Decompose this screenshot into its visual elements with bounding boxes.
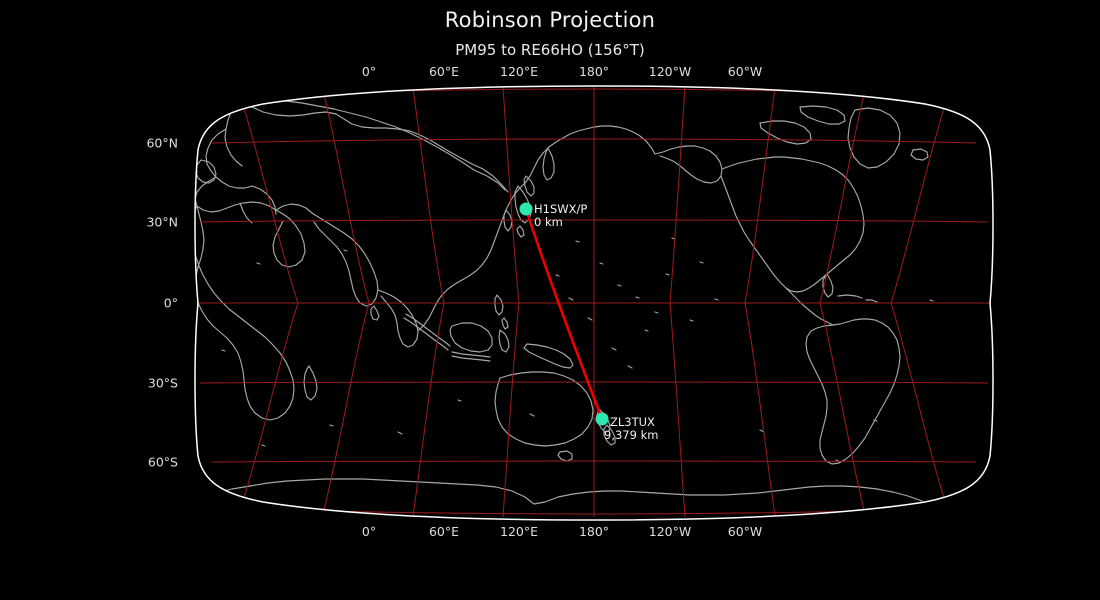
lon-tick-top-120e: 120°E	[500, 64, 538, 79]
lon-tick-bottom-60e: 60°E	[429, 524, 459, 539]
lat-tick-30s: 30°S	[112, 376, 178, 391]
lon-tick-top-60w: 60°W	[728, 64, 763, 79]
lon-tick-bottom-0: 0°	[362, 524, 376, 539]
lat-tick-60n: 60°N	[112, 136, 178, 151]
map-figure: Robinson Projection PM95 to RE66HO (156°…	[0, 0, 1100, 600]
marker-origin[interactable]	[520, 203, 533, 216]
marker-origin-label-group: H1SWX/P 0 km	[534, 203, 587, 229]
lon-tick-bottom-120w: 120°W	[649, 524, 691, 539]
lon-tick-top-0: 0°	[362, 64, 376, 79]
marker-destination[interactable]	[596, 413, 609, 426]
lon-tick-top-180: 180°	[579, 64, 609, 79]
lon-tick-bottom-120e: 120°E	[500, 524, 538, 539]
marker-destination-distance: 9,379 km	[604, 429, 658, 442]
lon-tick-top-120w: 120°W	[649, 64, 691, 79]
lon-tick-top-60e: 60°E	[429, 64, 459, 79]
lat-tick-0: 0°	[112, 296, 178, 311]
lat-tick-30n: 30°N	[112, 215, 178, 230]
marker-origin-distance: 0 km	[534, 216, 587, 229]
marker-destination-label-group: ZL3TUX 9,379 km	[610, 416, 658, 442]
lon-tick-bottom-180: 180°	[579, 524, 609, 539]
lon-tick-bottom-60w: 60°W	[728, 524, 763, 539]
lat-tick-60s: 60°S	[112, 455, 178, 470]
